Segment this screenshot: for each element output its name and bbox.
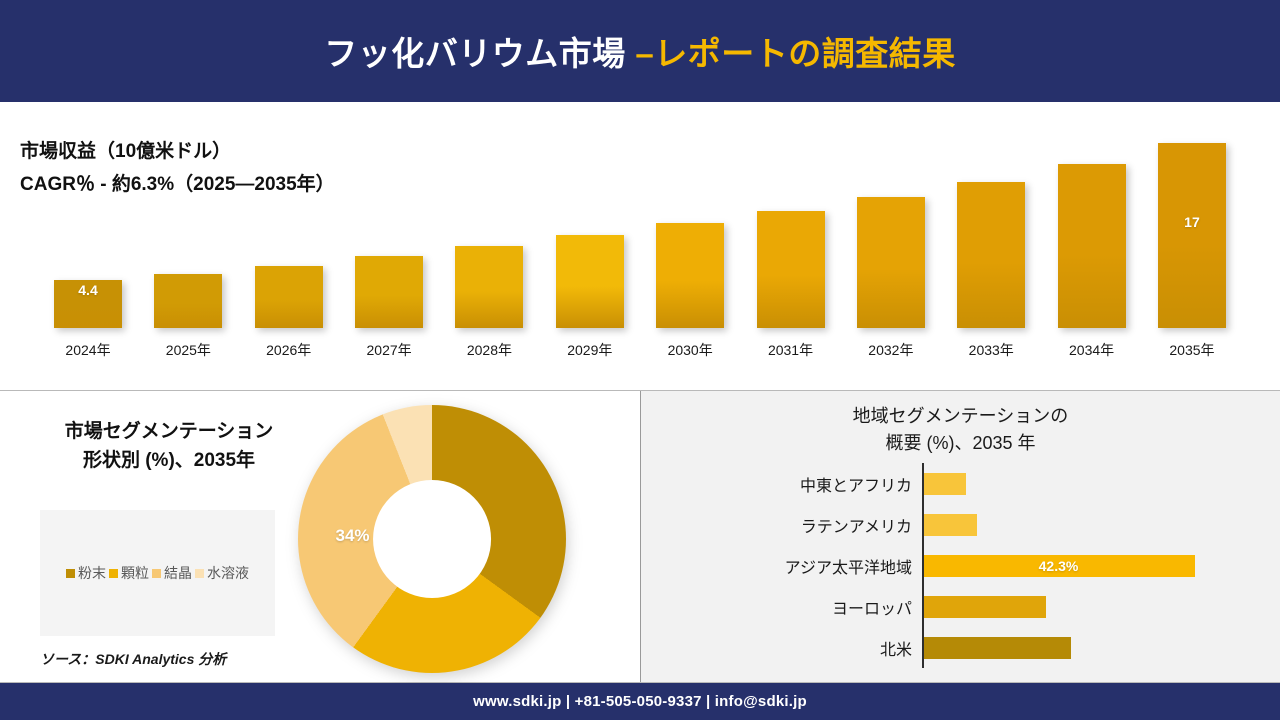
bar bbox=[857, 197, 925, 328]
chart-baseline bbox=[40, 328, 1240, 329]
bar bbox=[757, 211, 825, 328]
legend-item: 顆粒 bbox=[109, 563, 149, 583]
legend-item: 粉末 bbox=[66, 563, 106, 583]
page-title-main: フッ化バリウム市場 bbox=[324, 35, 635, 72]
region-bar-track bbox=[922, 514, 1280, 536]
donut-title-line1: 市場セグメンテーション bbox=[24, 417, 314, 446]
x-axis-label: 2034年 bbox=[1044, 340, 1140, 360]
bar-column bbox=[642, 130, 738, 328]
x-axis-label: 2029年 bbox=[542, 340, 638, 360]
bar-column bbox=[140, 130, 236, 328]
x-axis-label: 2031年 bbox=[743, 340, 839, 360]
legend-swatch bbox=[152, 569, 161, 578]
x-axis-labels: 2024年2025年2026年2027年2028年2029年2030年2031年… bbox=[40, 340, 1240, 360]
region-panel: 地域セグメンテーションの 概要 (%)、2035 年 中東とアフリカラテンアメリ… bbox=[641, 391, 1280, 682]
bar-series: 4.417 bbox=[40, 130, 1240, 328]
segmentation-panel: 市場セグメンテーション 形状別 (%)、2035年 粉末顆粒結晶水溶液 34% … bbox=[0, 391, 640, 682]
region-bar-value-label: 42.3% bbox=[1039, 558, 1079, 574]
bar-value-label: 17 bbox=[1184, 214, 1200, 230]
donut-slice-label: 34% bbox=[336, 526, 370, 546]
region-chart-title: 地域セグメンテーションの 概要 (%)、2035 年 bbox=[641, 403, 1280, 457]
bar bbox=[355, 256, 423, 328]
region-bar-rows: 中東とアフリカラテンアメリカアジア太平洋地域42.3%ヨーロッパ北米 bbox=[641, 463, 1280, 668]
x-axis-label: 2033年 bbox=[943, 340, 1039, 360]
region-label: 中東とアフリカ bbox=[641, 472, 922, 496]
region-bar-row: ヨーロッパ bbox=[641, 593, 1280, 621]
x-axis-label: 2030年 bbox=[642, 340, 738, 360]
donut-legend-items: 粉末顆粒結晶水溶液 bbox=[66, 563, 249, 583]
region-label: ヨーロッパ bbox=[641, 595, 922, 619]
region-bar: 42.3% bbox=[922, 555, 1195, 577]
donut-hole bbox=[373, 480, 491, 598]
legend-label: 顆粒 bbox=[121, 563, 149, 583]
bar-column bbox=[843, 130, 939, 328]
region-title-line2: 概要 (%)、2035 年 bbox=[641, 430, 1280, 457]
region-title-line1: 地域セグメンテーションの bbox=[641, 403, 1280, 430]
region-bar-track: 42.3% bbox=[922, 555, 1280, 577]
source-note: ソース：SDKI Analytics 分析 bbox=[40, 649, 226, 669]
donut-legend: 粉末顆粒結晶水溶液 bbox=[40, 510, 275, 636]
x-axis-label: 2024年 bbox=[40, 340, 136, 360]
page-title-accent: –レポートの調査結果 bbox=[635, 35, 955, 72]
region-bar bbox=[922, 596, 1046, 618]
region-bar-row: ラテンアメリカ bbox=[641, 511, 1280, 539]
region-label: アジア太平洋地域 bbox=[641, 554, 922, 578]
region-bar-row: 中東とアフリカ bbox=[641, 470, 1280, 498]
donut-title-line2: 形状別 (%)、2035年 bbox=[24, 446, 314, 475]
legend-swatch bbox=[109, 569, 118, 578]
legend-swatch bbox=[66, 569, 75, 578]
region-bar bbox=[922, 514, 977, 536]
bar bbox=[656, 223, 724, 328]
legend-item: 結晶 bbox=[152, 563, 192, 583]
x-axis-label: 2025年 bbox=[140, 340, 236, 360]
revenue-chart-section: 市場収益（10億米ドル） CAGR％ - 約6.3%（2025—2035年） 4… bbox=[0, 102, 1280, 390]
footer-contact: www.sdki.jp | +81-505-050-9337 | info@sd… bbox=[473, 693, 807, 710]
bar-column bbox=[1044, 130, 1140, 328]
x-axis-label: 2035年 bbox=[1144, 340, 1240, 360]
region-bar-track bbox=[922, 473, 1280, 495]
region-bar-track bbox=[922, 637, 1280, 659]
bar bbox=[1058, 164, 1126, 328]
bar bbox=[255, 266, 323, 328]
region-bar bbox=[922, 473, 966, 495]
page-header: フッ化バリウム市場 –レポートの調査結果 bbox=[0, 0, 1280, 102]
bar-column bbox=[341, 130, 437, 328]
region-bar-row: 北米 bbox=[641, 634, 1280, 662]
x-axis-label: 2026年 bbox=[241, 340, 337, 360]
legend-label: 粉末 bbox=[78, 563, 106, 583]
bar bbox=[957, 182, 1025, 328]
bar-column: 4.4 bbox=[40, 130, 136, 328]
bar-column bbox=[943, 130, 1039, 328]
legend-label: 結晶 bbox=[164, 563, 192, 583]
region-label: 北米 bbox=[641, 636, 922, 660]
x-axis-label: 2028年 bbox=[441, 340, 537, 360]
region-bar-track bbox=[922, 596, 1280, 618]
page-footer: www.sdki.jp | +81-505-050-9337 | info@sd… bbox=[0, 683, 1280, 720]
bar bbox=[455, 246, 523, 328]
legend-swatch bbox=[195, 569, 204, 578]
region-bar-chart: 中東とアフリカラテンアメリカアジア太平洋地域42.3%ヨーロッパ北米 bbox=[641, 463, 1280, 668]
legend-item: 水溶液 bbox=[195, 563, 249, 583]
bar-column bbox=[743, 130, 839, 328]
region-bar bbox=[922, 637, 1071, 659]
bar-column: 17 bbox=[1144, 130, 1240, 328]
page-title: フッ化バリウム市場 –レポートの調査結果 bbox=[324, 27, 956, 75]
region-axis-line bbox=[922, 463, 924, 668]
bar bbox=[154, 274, 222, 328]
infographic-page: フッ化バリウム市場 –レポートの調査結果 市場収益（10億米ドル） CAGR％ … bbox=[0, 0, 1280, 720]
region-bar-row: アジア太平洋地域42.3% bbox=[641, 552, 1280, 580]
bar: 4.4 bbox=[54, 280, 122, 328]
donut-chart: 34% bbox=[298, 405, 566, 673]
bar-column bbox=[441, 130, 537, 328]
x-axis-label: 2032年 bbox=[843, 340, 939, 360]
legend-label: 水溶液 bbox=[207, 563, 249, 583]
bar-value-label: 4.4 bbox=[78, 282, 97, 298]
donut-chart-title: 市場セグメンテーション 形状別 (%)、2035年 bbox=[24, 417, 314, 476]
x-axis-label: 2027年 bbox=[341, 340, 437, 360]
bar-column bbox=[542, 130, 638, 328]
bar-column bbox=[241, 130, 337, 328]
bar bbox=[556, 235, 624, 328]
region-label: ラテンアメリカ bbox=[641, 513, 922, 537]
revenue-bar-chart: 4.417 2024年2025年2026年2027年2028年2029年2030… bbox=[40, 126, 1240, 362]
bar: 17 bbox=[1158, 143, 1226, 328]
